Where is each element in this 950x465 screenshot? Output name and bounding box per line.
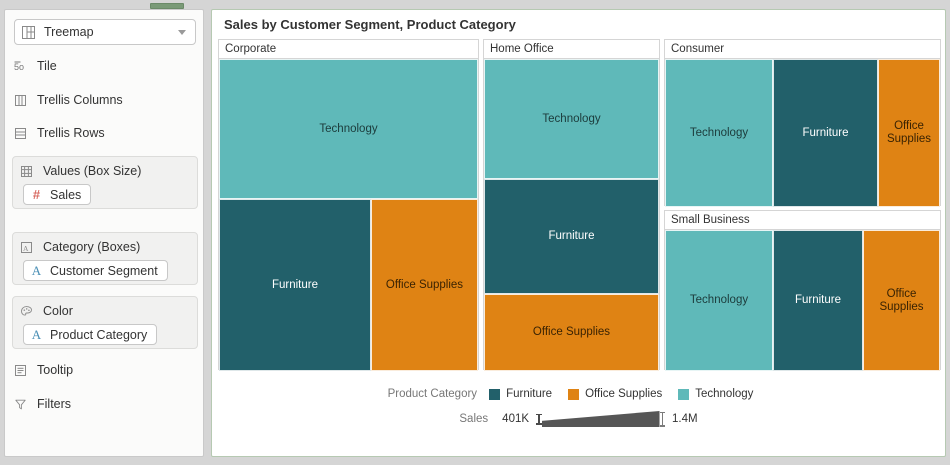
size-legend-title: Sales <box>459 413 488 425</box>
treemap-box-label: Furniture <box>792 294 844 307</box>
category-shelf-card[interactable]: A Category (Boxes) A Customer Segment <box>12 232 198 285</box>
legend-item-office-supplies[interactable]: Office Supplies <box>568 388 662 400</box>
color-legend: Product Category Furniture Office Suppli… <box>212 384 945 404</box>
pane-body-home-office: Technology Furniture Office Supplies <box>484 59 659 369</box>
legend-swatch-technology <box>678 389 689 400</box>
treemap-panes: Corporate Technology Furniture Office Su… <box>218 39 939 377</box>
treemap-box[interactable]: Technology <box>219 59 478 199</box>
pane-home-office[interactable]: Home Office Technology Furniture Office … <box>483 39 660 370</box>
treemap-box-label: Furniture <box>269 279 321 292</box>
pane-header-home-office: Home Office <box>484 40 659 59</box>
pill-product-category-label: Product Category <box>50 328 147 342</box>
legend-swatch-office-supplies <box>568 389 579 400</box>
filter-icon <box>14 398 27 411</box>
shelf-row-trellis-rows[interactable]: Trellis Rows <box>14 122 196 144</box>
treemap-box-label: Furniture <box>799 127 851 140</box>
pane-body-small-business: Technology Furniture Office Supplies <box>665 230 940 369</box>
treemap-icon <box>22 26 35 39</box>
size-legend-slider[interactable] <box>536 411 665 427</box>
pane-corporate[interactable]: Corporate Technology Furniture Office Su… <box>218 39 479 370</box>
page-title: Sales by Customer Segment, Product Categ… <box>212 10 945 39</box>
chevron-down-icon[interactable] <box>178 30 186 35</box>
pill-sales-label: Sales <box>50 188 81 202</box>
shelf-row-tooltip[interactable]: Tooltip <box>14 359 196 381</box>
treemap-box-label: Office Supplies <box>864 288 939 314</box>
pane-header-small-business: Small Business <box>665 211 940 230</box>
marks-card-panel: Treemap 5o Tile Trellis Columns <box>4 9 204 457</box>
pane-body-consumer: Technology Furniture Office Supplies <box>665 59 940 205</box>
treemap-box[interactable]: Technology <box>484 59 659 179</box>
size-legend-min: 401K <box>502 413 529 425</box>
measure-icon <box>20 165 33 178</box>
pane-consumer[interactable]: Consumer Technology Furniture Office Sup… <box>664 39 941 206</box>
size-legend-wedge <box>542 411 660 427</box>
trellis-rows-icon <box>14 127 27 140</box>
treemap-box[interactable]: Office Supplies <box>878 59 940 207</box>
legend-label-office-supplies: Office Supplies <box>585 388 662 400</box>
color-legend-title: Product Category <box>388 388 478 400</box>
shelf-label-trellis-columns: Trellis Columns <box>37 93 123 107</box>
values-shelf-card[interactable]: Values (Box Size) # Sales <box>12 156 198 209</box>
size-legend-handle-min[interactable] <box>538 414 540 425</box>
abc-icon: A <box>30 328 43 341</box>
app-window: Treemap 5o Tile Trellis Columns <box>0 0 950 465</box>
legend-swatch-furniture <box>489 389 500 400</box>
trellis-columns-icon <box>14 94 27 107</box>
treemap-box[interactable]: Technology <box>665 59 773 207</box>
treemap-box[interactable]: Furniture <box>773 230 863 371</box>
abc-icon: A <box>30 264 43 277</box>
pill-sales[interactable]: # Sales <box>23 184 91 205</box>
treemap-box-label: Technology <box>687 127 751 140</box>
treemap-box-label: Technology <box>539 113 603 126</box>
pane-header-corporate: Corporate <box>219 40 478 59</box>
size-legend: Sales 401K 1.4M <box>212 408 945 430</box>
mark-type-dropdown[interactable]: Treemap <box>14 19 196 45</box>
color-shelf-label: Color <box>43 304 73 318</box>
treemap-box-label: Technology <box>687 294 751 307</box>
pill-product-category[interactable]: A Product Category <box>23 324 157 345</box>
treemap-box[interactable]: Technology <box>665 230 773 371</box>
size-legend-handle-max[interactable] <box>662 412 664 427</box>
treemap-box-label: Office Supplies <box>383 279 466 292</box>
pane-small-business[interactable]: Small Business Technology Furniture Offi… <box>664 210 941 370</box>
treemap-box-label: Office Supplies <box>530 326 613 339</box>
treemap-box-label: Office Supplies <box>879 120 939 146</box>
treemap-box[interactable]: Furniture <box>484 179 659 294</box>
treemap-box[interactable]: Office Supplies <box>371 199 478 371</box>
size-legend-max: 1.4M <box>672 413 698 425</box>
values-shelf-label: Values (Box Size) <box>43 164 141 178</box>
treemap-box-label: Technology <box>316 123 380 136</box>
pill-customer-segment[interactable]: A Customer Segment <box>23 260 168 281</box>
color-palette-icon <box>20 305 33 318</box>
shelf-label-filters: Filters <box>37 397 71 411</box>
shelf-label-tile: Tile <box>37 59 57 73</box>
svg-text:5o: 5o <box>14 62 24 72</box>
legend-item-technology[interactable]: Technology <box>678 388 753 400</box>
shelf-row-filters[interactable]: Filters <box>14 393 196 415</box>
treemap-box-label: Furniture <box>545 230 597 243</box>
pill-customer-segment-label: Customer Segment <box>50 264 158 278</box>
color-shelf-header: Color <box>13 300 197 322</box>
treemap-box[interactable]: Furniture <box>219 199 371 371</box>
dimension-icon: A <box>20 241 33 254</box>
shelf-row-tile[interactable]: 5o Tile <box>14 55 196 77</box>
color-shelf-card[interactable]: Color A Product Category <box>12 296 198 349</box>
mark-type-label: Treemap <box>44 25 178 39</box>
tooltip-icon <box>14 364 27 377</box>
legend-label-technology: Technology <box>695 388 753 400</box>
tile-icon: 5o <box>14 60 27 73</box>
svg-text:A: A <box>23 243 29 252</box>
legend-item-furniture[interactable]: Furniture <box>489 388 552 400</box>
treemap-box[interactable]: Office Supplies <box>484 294 659 371</box>
category-shelf-label: Category (Boxes) <box>43 240 140 254</box>
shelf-label-trellis-rows: Trellis Rows <box>37 126 105 140</box>
values-shelf-header: Values (Box Size) <box>13 160 197 182</box>
shelf-label-tooltip: Tooltip <box>37 363 73 377</box>
hash-icon: # <box>30 188 43 201</box>
treemap-box[interactable]: Office Supplies <box>863 230 940 371</box>
treemap-box[interactable]: Furniture <box>773 59 878 207</box>
pane-header-consumer: Consumer <box>665 40 940 59</box>
legend-label-furniture: Furniture <box>506 388 552 400</box>
shelf-row-trellis-columns[interactable]: Trellis Columns <box>14 89 196 111</box>
visualization-panel: Sales by Customer Segment, Product Categ… <box>211 9 946 457</box>
category-shelf-header: A Category (Boxes) <box>13 236 197 258</box>
pane-body-corporate: Technology Furniture Office Supplies <box>219 59 478 369</box>
